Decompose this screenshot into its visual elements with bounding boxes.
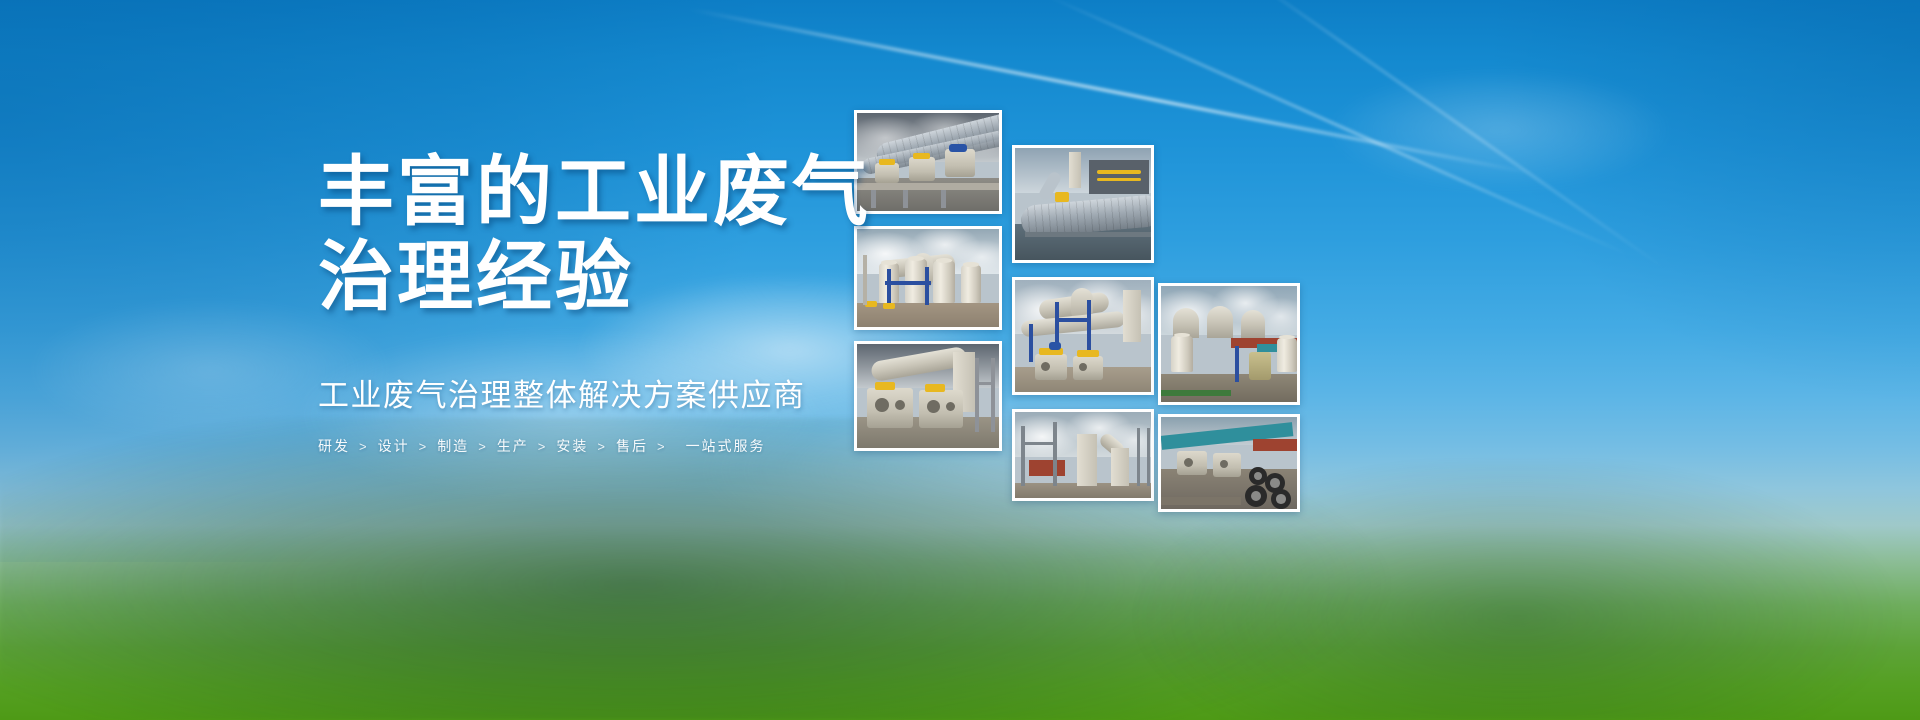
photo-blue-frame-blowers <box>1012 277 1154 395</box>
process-step: 制造 <box>437 436 469 456</box>
process-chain: 研发>设计>制造>生产>安装>售后>一站式服务 <box>318 436 878 456</box>
photo-collage <box>0 0 1920 720</box>
photo-treatment-shed <box>1158 283 1300 405</box>
headline-line-1: 丰富的工业废气 <box>318 150 871 235</box>
hero-banner: 丰富的工业废气 治理经验 工业废气治理整体解决方案供应商 研发>设计>制造>生产… <box>0 0 1920 720</box>
process-final-label: 一站式服务 <box>686 436 766 456</box>
process-arrow-icon: > <box>359 439 369 454</box>
process-step: 生产 <box>497 436 529 456</box>
process-arrow-icon: > <box>478 439 488 454</box>
photo-equipment-yard <box>1158 414 1300 512</box>
hero-copy-block: 丰富的工业废气 治理经验 工业废气治理整体解决方案供应商 研发>设计>制造>生产… <box>318 150 878 456</box>
process-step: 售后 <box>616 436 648 456</box>
photo-large-duct-rooftop <box>1012 145 1154 263</box>
process-step: 研发 <box>318 436 350 456</box>
headline-line-2: 治理经验 <box>318 235 878 320</box>
hero-subtitle: 工业废气治理整体解决方案供应商 <box>318 370 878 415</box>
process-step: 安装 <box>556 436 588 456</box>
process-step: 设计 <box>378 436 410 456</box>
process-arrow-icon: > <box>538 439 548 454</box>
process-arrow-icon: > <box>419 439 429 454</box>
hero-headline: 丰富的工业废气 治理经验 <box>318 150 878 320</box>
process-arrow-icon: > <box>597 439 607 454</box>
process-arrow-icon: > <box>657 439 667 454</box>
photo-plant-exterior <box>1012 409 1154 501</box>
